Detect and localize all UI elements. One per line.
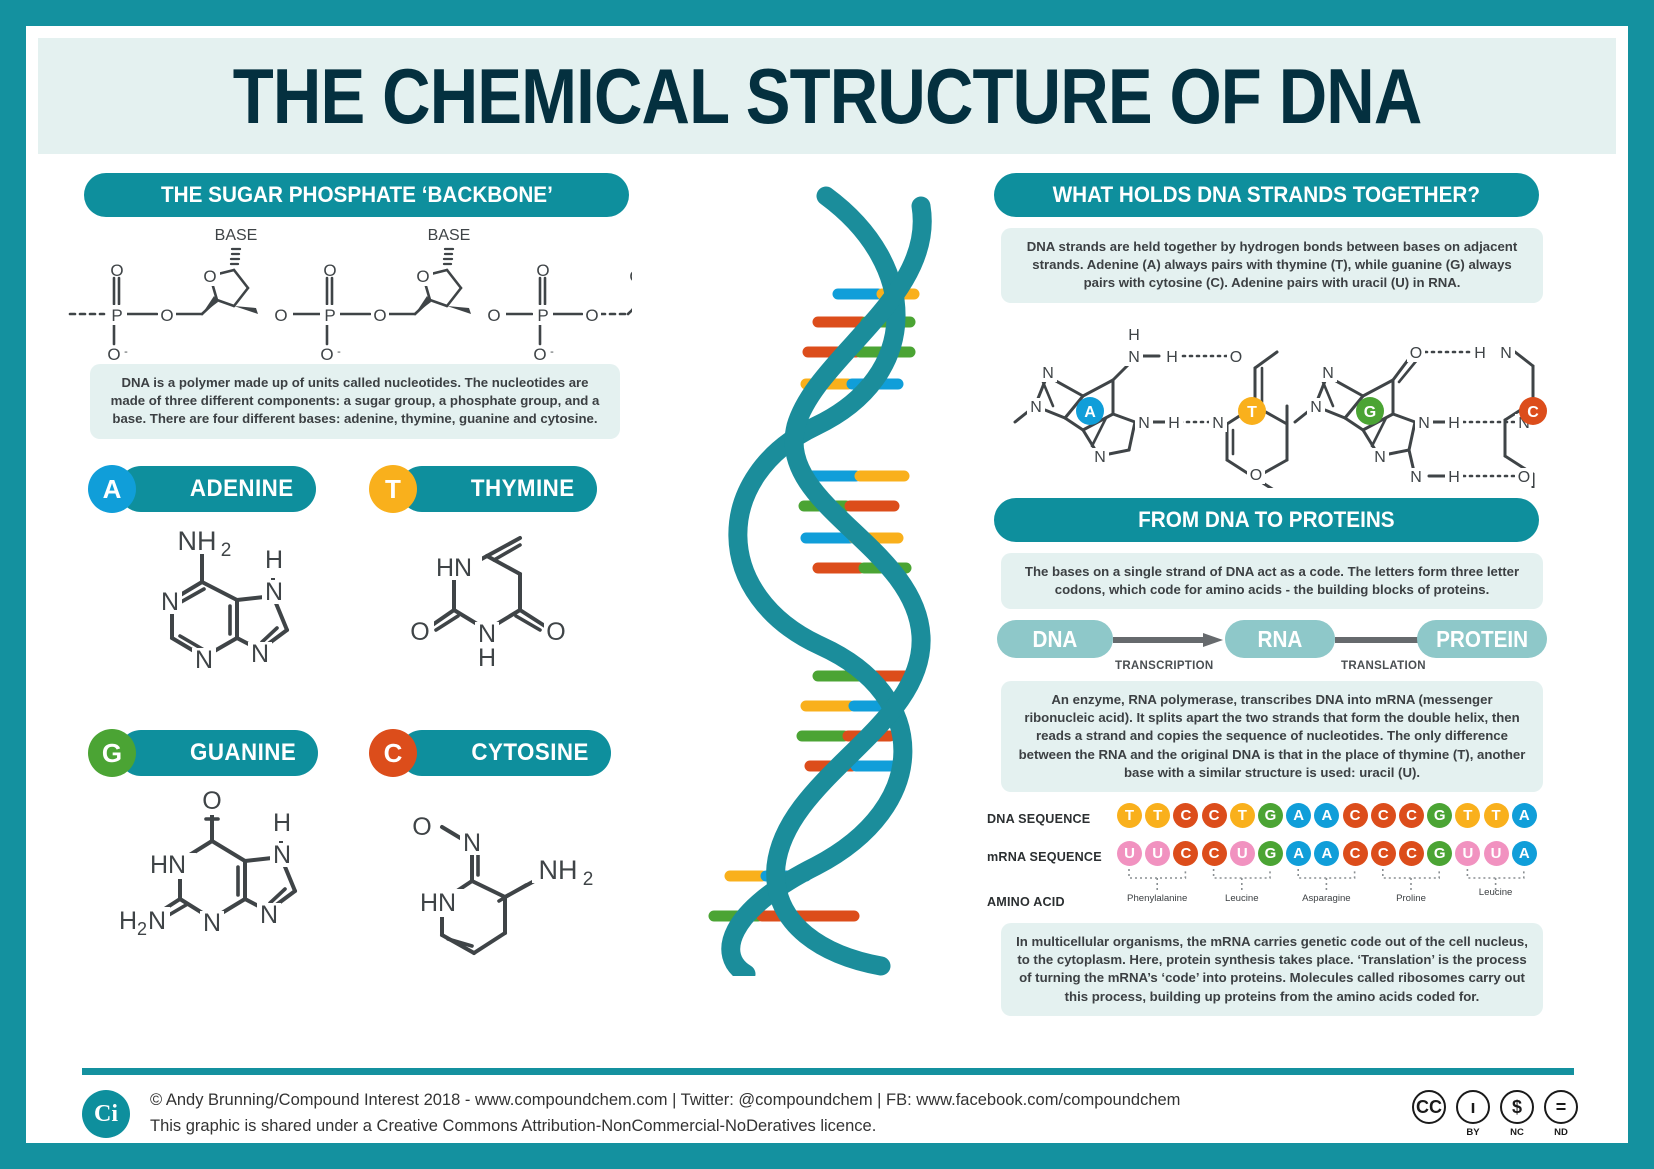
- base-circle-u: U: [1117, 841, 1142, 866]
- creative-commons-badges: CCıBY$NC=ND: [1412, 1090, 1582, 1140]
- svg-text:O: O: [533, 345, 546, 364]
- svg-text:H: H: [273, 809, 291, 837]
- thymine-molecule-diagram: HN O O N H: [392, 520, 622, 700]
- base-circle-c: C: [1399, 841, 1424, 866]
- base-circle-u: U: [1455, 841, 1480, 866]
- base-name-guanine: GUANINE: [190, 739, 296, 767]
- svg-text:H: H: [1168, 415, 1180, 432]
- holds-together-description: DNA strands are held together by hydroge…: [1001, 228, 1543, 303]
- base-circle-a: A: [1314, 841, 1339, 866]
- base-circle-t: T: [1145, 803, 1170, 828]
- cc-badge-cc-icon: CC: [1412, 1090, 1446, 1124]
- svg-text:O: O: [110, 261, 123, 280]
- base-circle-g: G: [1427, 803, 1452, 828]
- translation-description: In multicellular organisms, the mRNA car…: [1001, 923, 1543, 1016]
- svg-text:C: C: [1527, 404, 1539, 421]
- svg-text:O: O: [412, 813, 431, 841]
- svg-text:-: -: [337, 346, 341, 358]
- svg-text:O: O: [585, 306, 598, 325]
- base-circle-g: G: [1258, 803, 1283, 828]
- svg-text:N: N: [195, 646, 213, 674]
- guanine-molecule-diagram: O HN N H N N H 2 N: [112, 783, 372, 983]
- svg-text:HN: HN: [150, 851, 186, 879]
- base-letter-circle-c: C: [369, 729, 417, 777]
- proteins-intro-description: The bases on a single strand of DNA act …: [1001, 553, 1543, 609]
- flow-node-rna[interactable]: RNA: [1225, 620, 1335, 658]
- base-circle-a: A: [1314, 803, 1339, 828]
- base-circle-c: C: [1371, 841, 1396, 866]
- svg-text:N: N: [203, 909, 221, 937]
- svg-text:N: N: [1374, 449, 1386, 466]
- row-label-dna-sequence: DNA SEQUENCE: [987, 812, 1090, 826]
- svg-text:N: N: [148, 907, 166, 935]
- base-circle-c: C: [1202, 803, 1227, 828]
- base-header-cytosine[interactable]: CYTOSINE C: [369, 730, 619, 776]
- svg-text:N: N: [260, 901, 278, 929]
- svg-text:H: H: [265, 546, 283, 574]
- flow-label-transcription: TRANSCRIPTION: [1115, 660, 1213, 672]
- base-circle-u: U: [1230, 841, 1255, 866]
- section-header-dna-to-proteins: FROM DNA TO PROTEINS: [994, 498, 1539, 542]
- base-circle-u: U: [1484, 841, 1509, 866]
- svg-text:P: P: [537, 306, 548, 325]
- svg-text:H: H: [1128, 327, 1140, 344]
- svg-text:N: N: [1030, 399, 1042, 416]
- svg-text:-: -: [550, 346, 554, 358]
- cc-badge-caption: ND: [1544, 1127, 1578, 1138]
- svg-text:N: N: [1410, 469, 1422, 486]
- svg-text:H: H: [1448, 415, 1460, 432]
- svg-text:P: P: [111, 306, 122, 325]
- svg-text:HN: HN: [436, 554, 472, 582]
- base-name-adenine: ADENINE: [190, 475, 294, 503]
- footer: Ci © Andy Brunning/Compound Interest 201…: [82, 1086, 1582, 1144]
- svg-text:N: N: [1500, 345, 1512, 362]
- base-header-adenine[interactable]: ADENINE A: [88, 466, 358, 512]
- row-label-amino-acid: AMINO ACID: [987, 895, 1065, 909]
- footer-credit-line: © Andy Brunning/Compound Interest 2018 -…: [150, 1088, 1180, 1114]
- base-circle-c: C: [1371, 803, 1396, 828]
- base-name-cytosine: CYTOSINE: [471, 739, 588, 767]
- base-header-guanine[interactable]: GUANINE G: [88, 730, 358, 776]
- svg-text:O: O: [536, 261, 549, 280]
- title-banner: THE CHEMICAL STRUCTURE OF DNA: [38, 38, 1616, 154]
- base-letter-circle-t: T: [369, 465, 417, 513]
- svg-text:N: N: [1042, 365, 1054, 382]
- sequence-table: DNA SEQUENCE mRNA SEQUENCE AMINO ACID TT…: [987, 803, 1547, 918]
- flow-node-dna[interactable]: DNA: [997, 620, 1113, 658]
- base-circle-t: T: [1117, 803, 1142, 828]
- base-header-thymine[interactable]: THYMINE T: [369, 466, 619, 512]
- svg-text:H: H: [119, 907, 137, 935]
- svg-text:O: O: [323, 261, 336, 280]
- adenine-molecule-diagram: NH 2 N N N H N: [142, 520, 372, 700]
- svg-text:N: N: [1212, 415, 1224, 432]
- cytosine-molecule-diagram: O N NH 2 HN: [372, 783, 632, 983]
- backbone-description: DNA is a polymer made up of units called…: [90, 364, 620, 439]
- svg-text:G: G: [1364, 404, 1376, 421]
- svg-text:O: O: [160, 306, 173, 325]
- sugar-phosphate-backbone-diagram: O O O P P P O O O O O OOO O- O- O-: [62, 226, 632, 366]
- svg-text:O: O: [487, 306, 500, 325]
- svg-text:H: H: [1448, 469, 1460, 486]
- svg-text:O: O: [629, 267, 632, 286]
- base-circle-c: C: [1173, 803, 1198, 828]
- base-circle-a: A: [1512, 803, 1537, 828]
- svg-text:O: O: [107, 345, 120, 364]
- base-circle-c: C: [1343, 841, 1368, 866]
- section-header-holds-together: WHAT HOLDS DNA STRANDS TOGETHER?: [994, 173, 1539, 217]
- section-header-backbone: THE SUGAR PHOSPHATE ‘BACKBONE’: [84, 173, 629, 217]
- base-label: BASE: [428, 227, 471, 244]
- svg-text:H: H: [1474, 345, 1486, 362]
- base-label: BASE: [215, 227, 258, 244]
- cc-badge-caption: NC: [1500, 1127, 1534, 1138]
- flow-label-translation: TRANSLATION: [1341, 660, 1426, 672]
- svg-text:N: N: [1322, 365, 1334, 382]
- base-circle-u: U: [1145, 841, 1170, 866]
- svg-text:H: H: [1166, 349, 1178, 366]
- svg-text:O: O: [202, 787, 221, 815]
- svg-text:H: H: [478, 644, 496, 672]
- svg-text:N: N: [1418, 415, 1430, 432]
- dna-double-helix-illustration: [666, 176, 966, 976]
- svg-text:A: A: [1084, 404, 1096, 421]
- base-letter-circle-g: G: [88, 729, 136, 777]
- base-name-thymine: THYMINE: [471, 475, 575, 503]
- base-circle-c: C: [1399, 803, 1424, 828]
- svg-text:O: O: [203, 267, 216, 286]
- svg-text:O: O: [320, 345, 333, 364]
- svg-text:N: N: [1094, 449, 1106, 466]
- svg-text:O: O: [546, 618, 565, 646]
- arrow-transcription-icon: [1113, 633, 1223, 647]
- base-circle-t: T: [1484, 803, 1509, 828]
- svg-text:2: 2: [221, 540, 232, 561]
- svg-text:O: O: [1410, 345, 1422, 362]
- base-circle-a: A: [1286, 841, 1311, 866]
- svg-text:T: T: [1247, 404, 1257, 421]
- base-circle-a: A: [1512, 841, 1537, 866]
- svg-text:N: N: [1128, 349, 1140, 366]
- left-column: THE SUGAR PHOSPHATE ‘BACKBONE’: [62, 168, 632, 998]
- cc-badge-caption: BY: [1456, 1127, 1490, 1138]
- svg-text:N: N: [161, 588, 179, 616]
- svg-text:N: N: [273, 841, 291, 869]
- svg-text:NH: NH: [539, 855, 578, 885]
- svg-text:N: N: [1310, 399, 1322, 416]
- svg-text:N: N: [265, 578, 283, 606]
- svg-text:O: O: [1230, 349, 1242, 366]
- base-circle-c: C: [1202, 841, 1227, 866]
- base-pair-hydrogen-bond-diagram: N N N N N H H H O N O A T: [987, 318, 1547, 488]
- svg-text:O: O: [274, 306, 287, 325]
- poster-canvas: THE CHEMICAL STRUCTURE OF DNA THE SUGAR …: [26, 26, 1628, 1143]
- base-circle-t: T: [1455, 803, 1480, 828]
- svg-text:O: O: [410, 618, 429, 646]
- compound-interest-logo: Ci: [82, 1090, 130, 1138]
- flow-node-protein[interactable]: PROTEIN: [1417, 620, 1547, 658]
- row-label-mrna-sequence: mRNA SEQUENCE: [987, 850, 1102, 864]
- svg-text:N: N: [463, 829, 481, 857]
- svg-text:P: P: [324, 306, 335, 325]
- cc-badge-by-icon: ı: [1456, 1090, 1490, 1124]
- amino-acid-label: Leucine: [1446, 887, 1546, 898]
- svg-text:2: 2: [583, 869, 594, 890]
- svg-text:N: N: [1138, 415, 1150, 432]
- adenine-nh2-label: NH: [178, 526, 217, 556]
- svg-text:N: N: [251, 640, 269, 668]
- cc-badge-nd-icon: =: [1544, 1090, 1578, 1124]
- footer-licence-line: This graphic is shared under a Creative …: [150, 1114, 1180, 1140]
- cc-badge-nc-icon: $: [1500, 1090, 1534, 1124]
- page-title: THE CHEMICAL STRUCTURE OF DNA: [233, 57, 1422, 135]
- svg-text:O: O: [416, 267, 429, 286]
- svg-text:O: O: [373, 306, 386, 325]
- dna-rna-protein-flow: DNA TRANSCRIPTION RNA TRANSLATION PROTEI…: [997, 620, 1545, 660]
- svg-text:HN: HN: [420, 889, 456, 917]
- base-circle-t: T: [1230, 803, 1255, 828]
- base-labels: BASE BASE BASE: [215, 227, 632, 244]
- svg-text:-: -: [124, 346, 128, 358]
- base-circle-g: G: [1258, 841, 1283, 866]
- base-circle-c: C: [1173, 841, 1198, 866]
- base-circle-a: A: [1286, 803, 1311, 828]
- svg-text:2: 2: [137, 919, 147, 939]
- base-circle-c: C: [1343, 803, 1368, 828]
- base-circle-g: G: [1427, 841, 1452, 866]
- svg-text:O: O: [1250, 467, 1262, 484]
- footer-divider: [82, 1068, 1574, 1075]
- rna-polymerase-description: An enzyme, RNA polymerase, transcribes D…: [1001, 681, 1543, 792]
- base-letter-circle-a: A: [88, 465, 136, 513]
- svg-text:O: O: [1518, 469, 1530, 486]
